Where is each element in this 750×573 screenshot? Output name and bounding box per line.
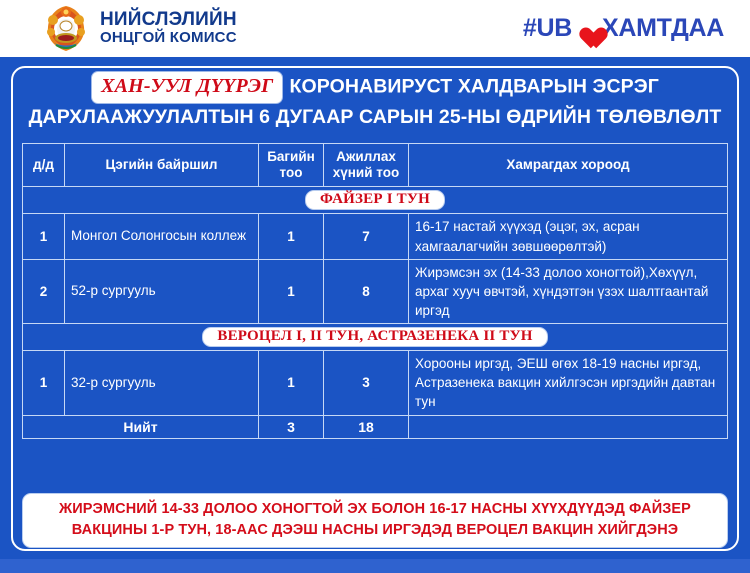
vaccination-plan-poster: НИЙСЛЭЛИЙН ОНЦГОЙ КОМИСС #UB ХАМТДАА ХАН… xyxy=(0,0,750,573)
section-label-verocell: ВЕРОЦЕЛ I, II ТУН, АСТРАЗЕНЕКА II ТУН xyxy=(202,327,547,347)
vaccination-plan-table: д/д Цэгийн байршил Багийн тоо Ажиллах хү… xyxy=(22,143,728,439)
cell-people: 7 xyxy=(324,214,409,259)
col-header-people: Ажиллах хүний тоо xyxy=(324,144,409,187)
table-total-row: Нийт 3 18 xyxy=(23,415,728,438)
cell-location: Монгол Солонгосын коллеж xyxy=(65,214,259,259)
bottom-notice-banner: ЖИРЭМСНИЙ 14-33 ДОЛОО ХОНОГТОЙ ЭХ БОЛОН … xyxy=(22,493,728,548)
cell-khoroo: Хорооны иргэд, ЭЕШ өгөх 18-19 насны иргэ… xyxy=(409,351,728,415)
brand-line-1: НИЙСЛЭЛИЙН xyxy=(100,10,237,30)
cell-teams: 1 xyxy=(259,351,324,415)
poster-header: НИЙСЛЭЛИЙН ОНЦГОЙ КОМИСС #UB ХАМТДАА xyxy=(0,0,750,57)
table-body: ФАЙЗЕР I ТУН 1 Монгол Солонгосын коллеж … xyxy=(23,187,728,438)
district-badge: ХАН-УУЛ ДҮҮРЭГ xyxy=(91,71,283,104)
page-title: ХАН-УУЛ ДҮҮРЭГКОРОНАВИРУСТ ХАЛДВАРЫН ЭСР… xyxy=(22,71,728,131)
col-header-khoroo: Хамрагдах хороод xyxy=(409,144,728,187)
cell-khoroo: 16-17 настай хүүхэд (эцэг, эх, асран хам… xyxy=(409,214,728,259)
cell-index: 2 xyxy=(23,259,65,323)
hashtag-prefix: #UB xyxy=(523,14,572,43)
col-header-teams-l2: тоо xyxy=(280,165,303,180)
table-row: 1 Монгол Солонгосын коллеж 1 7 16-17 нас… xyxy=(23,214,728,259)
brand-text: НИЙСЛЭЛИЙН ОНЦГОЙ КОМИСС xyxy=(100,10,237,46)
brand-line-2: ОНЦГОЙ КОМИСС xyxy=(100,30,237,46)
cell-people: 3 xyxy=(324,351,409,415)
banner-line-1: ЖИРЭМСНИЙ 14-33 ДОЛОО ХОНОГТОЙ ЭХ БОЛОН … xyxy=(31,499,719,520)
section-header-cell: ВЕРОЦЕЛ I, II ТУН, АСТРАЗЕНЕКА II ТУН xyxy=(23,324,728,351)
plan-table-wrap: д/д Цэгийн байршил Багийн тоо Ажиллах хү… xyxy=(22,143,728,439)
mongolia-state-emblem-icon xyxy=(40,2,92,54)
table-header-row: д/д Цэгийн байршил Багийн тоо Ажиллах хү… xyxy=(23,144,728,187)
total-khoroo xyxy=(409,415,728,438)
bottom-strip xyxy=(0,559,750,573)
cell-people: 8 xyxy=(324,259,409,323)
cell-index: 1 xyxy=(23,214,65,259)
total-teams: 3 xyxy=(259,415,324,438)
section-header-row: ВЕРОЦЕЛ I, II ТУН, АСТРАЗЕНЕКА II ТУН xyxy=(23,324,728,351)
cell-index: 1 xyxy=(23,351,65,415)
brand-block: НИЙСЛЭЛИЙН ОНЦГОЙ КОМИСС xyxy=(40,2,237,54)
col-header-people-l1: Ажиллах xyxy=(336,149,396,164)
cell-location: 32-р сургууль xyxy=(65,351,259,415)
title-line-1: ХАН-УУЛ ДҮҮРЭГКОРОНАВИРУСТ ХАЛДВАРЫН ЭСР… xyxy=(22,71,728,104)
table-row: 2 52-р сургууль 1 8 Жирэмсэн эх (14-33 д… xyxy=(23,259,728,323)
col-header-teams: Багийн тоо xyxy=(259,144,324,187)
cell-teams: 1 xyxy=(259,259,324,323)
col-header-people-l2: хүний тоо xyxy=(333,165,399,180)
hashtag-suffix: ХАМТДАА xyxy=(602,14,724,43)
cell-teams: 1 xyxy=(259,214,324,259)
banner-line-2: ВАКЦИНЫ 1-Р ТУН, 18-ААС ДЭЭШ НАСНЫ ИРГЭД… xyxy=(31,520,719,541)
cell-khoroo: Жирэмсэн эх (14-33 долоо хоногтой),Хөхүү… xyxy=(409,259,728,323)
title-line-2: ДАРХЛААЖУУЛАЛТЫН 6 ДУГААР САРЫН 25-НЫ ӨД… xyxy=(22,104,728,131)
table-head: д/д Цэгийн байршил Багийн тоо Ажиллах хү… xyxy=(23,144,728,187)
hashtag-badge: #UB ХАМТДАА xyxy=(511,12,736,46)
total-label: Нийт xyxy=(23,415,259,438)
section-header-row: ФАЙЗЕР I ТУН xyxy=(23,187,728,214)
section-label-pfizer: ФАЙЗЕР I ТУН xyxy=(305,190,445,210)
col-header-index: д/д xyxy=(23,144,65,187)
table-row: 1 32-р сургууль 1 3 Хорооны иргэд, ЭЕШ ө… xyxy=(23,351,728,415)
total-people: 18 xyxy=(324,415,409,438)
title-line-1-rest: КОРОНАВИРУСТ ХАЛДВАРЫН ЭСРЭГ xyxy=(289,75,658,97)
col-header-location: Цэгийн байршил xyxy=(65,144,259,187)
cell-location: 52-р сургууль xyxy=(65,259,259,323)
section-header-cell: ФАЙЗЕР I ТУН xyxy=(23,187,728,214)
col-header-teams-l1: Багийн xyxy=(267,149,315,164)
poster-body: ХАН-УУЛ ДҮҮРЭГКОРОНАВИРУСТ ХАЛДВАРЫН ЭСР… xyxy=(0,57,750,573)
heart-icon xyxy=(574,17,600,41)
